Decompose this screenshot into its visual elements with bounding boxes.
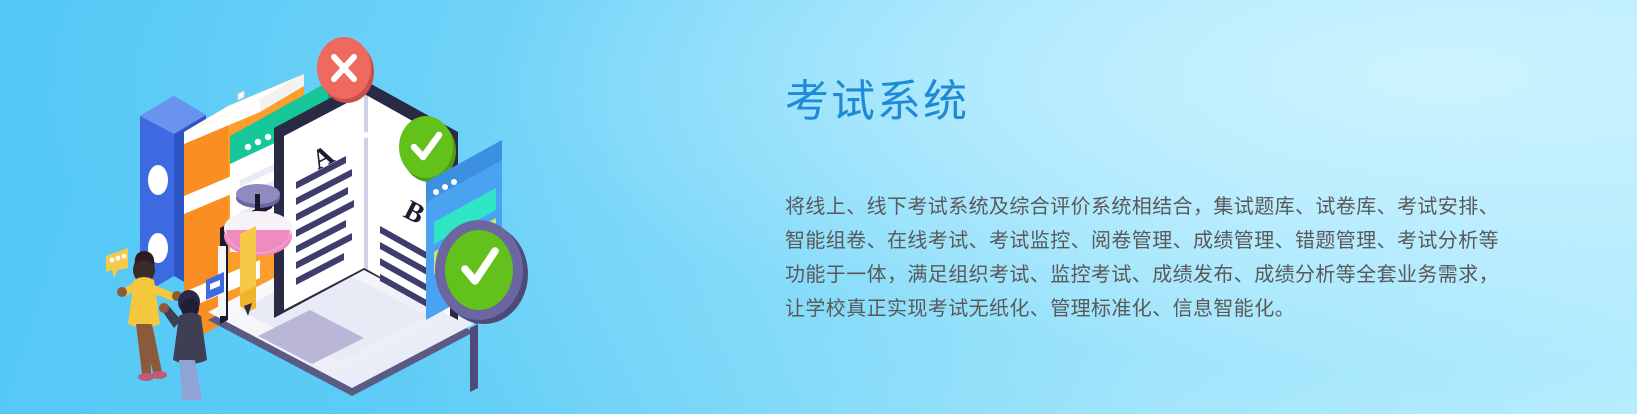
description-line: 将线上、线下考试系统及综合评价系统相结合，集试题库、试卷库、考试安排、 <box>785 190 1485 224</box>
description-line: 让学校真正实现考试无纸化、管理标准化、信息智能化。 <box>785 292 1485 326</box>
exam-system-banner: A B <box>0 0 1637 414</box>
magnifier-check-icon <box>435 220 528 392</box>
page-title: 考试系统 <box>785 76 1485 128</box>
pencil-icon <box>240 226 256 316</box>
description-line: 功能于一体，满足组织考试、监控考试、成绩发布、成绩分析等全套业务需求， <box>785 258 1485 292</box>
banner-description: 将线上、线下考试系统及综合评价系统相结合，集试题库、试卷库、考试安排、 智能组卷… <box>785 128 1485 326</box>
description-line: 智能组卷、在线考试、考试监控、阅卷管理、成绩管理、错题管理、考试分析等 <box>785 224 1485 258</box>
exam-system-illustration: A B <box>78 20 618 400</box>
banner-copy: 考试系统 将线上、线下考试系统及综合评价系统相结合，集试题库、试卷库、考试安排、… <box>785 76 1485 326</box>
